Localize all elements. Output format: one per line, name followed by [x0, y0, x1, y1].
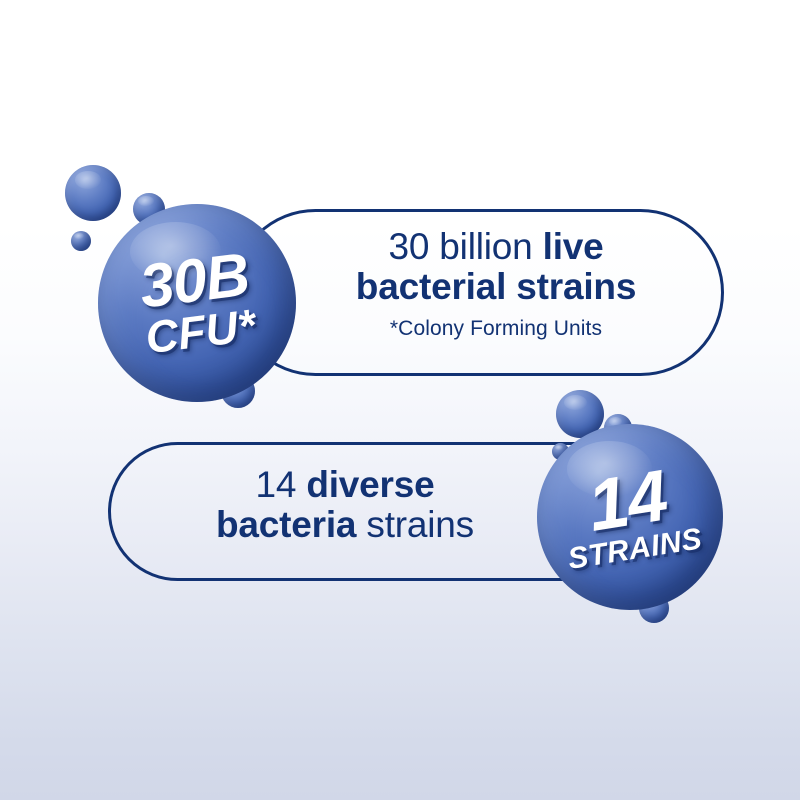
claim-cfu-line-1: 30 billion live [296, 227, 696, 267]
badge-cfu-unit: CFU* [143, 303, 258, 360]
claim-text-strains: 14 diverse bacteria strains [130, 465, 560, 545]
claim-cfu-footnote: *Colony Forming Units [296, 318, 696, 341]
claim-strains-line-2: bacteria strains [130, 505, 560, 545]
probiotic-claims-infographic: 30 billion live bacterial strains *Colon… [0, 0, 800, 800]
claim-cfu-line-1-regular: 30 billion [388, 226, 542, 267]
badge-strains-value: 14 [584, 464, 671, 540]
badge-sphere-strains: 14 STRAINS [537, 424, 723, 610]
claim-cfu-line-2: bacterial strains [296, 267, 696, 307]
claim-strains-line-2-regular: strains [356, 504, 474, 545]
claim-strains-line-2-bold: bacteria [216, 504, 356, 545]
claim-strains-line-1-bold: diverse [306, 464, 434, 505]
decorative-bubble-icon [65, 165, 121, 221]
claim-text-cfu: 30 billion live bacterial strains *Colon… [296, 227, 696, 341]
claim-strains-line-1-regular: 14 [255, 464, 306, 505]
decorative-bubble-icon [71, 231, 91, 251]
badge-sphere-cfu: 30B CFU* [98, 204, 296, 402]
badge-strains-unit: STRAINS [566, 524, 704, 575]
claim-strains-line-1: 14 diverse [130, 465, 560, 505]
claim-cfu-line-1-bold: live [543, 226, 604, 267]
badge-cfu-value: 30B [137, 246, 252, 315]
